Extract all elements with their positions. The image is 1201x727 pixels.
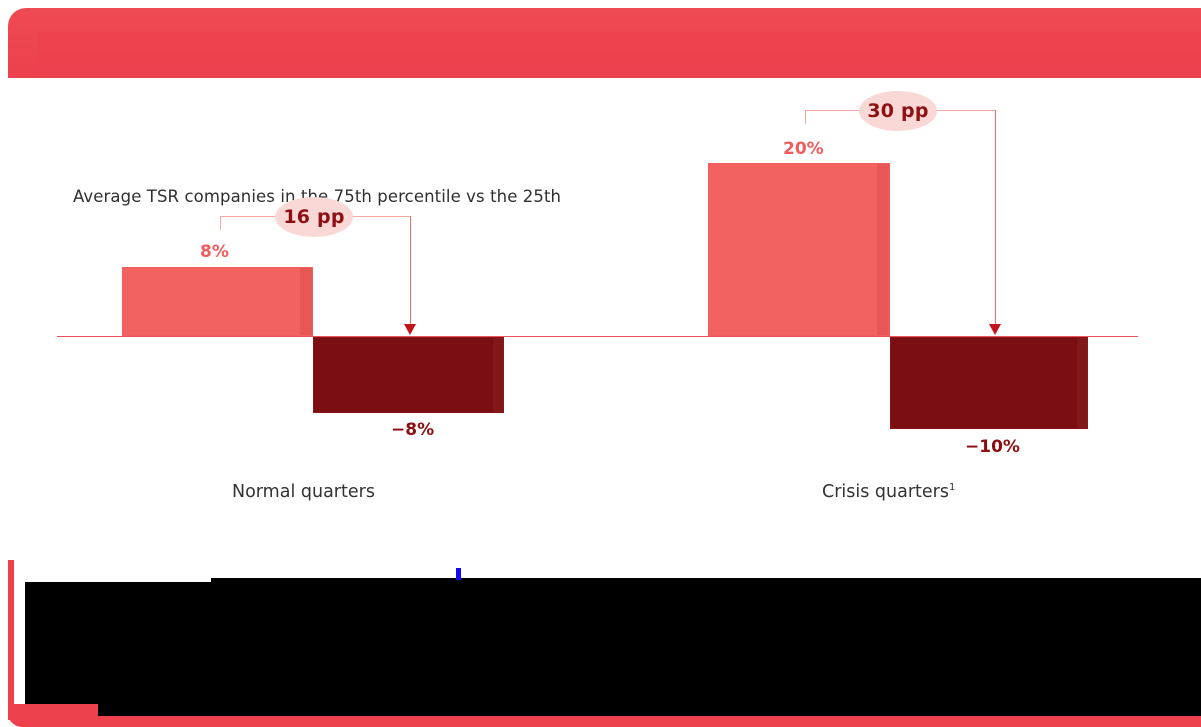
chart-plot-area: 8% −8% 16 pp 20% −10% xyxy=(8,78,1194,638)
bar-normal-75th[interactable] xyxy=(122,267,313,336)
annotation-arrow-icon xyxy=(989,324,1001,335)
occluded-region xyxy=(25,578,1201,711)
header-band xyxy=(8,8,1201,78)
annotation-bubble-crisis: 30 pp xyxy=(859,91,937,131)
annotation-left-stub xyxy=(220,216,221,230)
header-band-accent xyxy=(38,32,1201,78)
slide-root: Average TSR companies in the 75th percen… xyxy=(0,0,1201,727)
value-label-crisis-25th: −10% xyxy=(965,437,1020,457)
value-label-normal-25th: −8% xyxy=(391,420,434,440)
value-label-crisis-75th: 20% xyxy=(783,139,824,159)
occluded-region-marker xyxy=(456,568,461,580)
annotation-arrow-icon xyxy=(404,324,416,335)
category-label-crisis: Crisis quarters1 xyxy=(822,482,955,502)
bar-crisis-25th[interactable] xyxy=(890,337,1088,429)
annotation-left-stub xyxy=(805,110,806,124)
bar-normal-25th[interactable] xyxy=(313,337,504,413)
bar-crisis-75th[interactable] xyxy=(708,163,890,336)
annotation-right-drop-line xyxy=(995,110,996,326)
category-label-normal: Normal quarters xyxy=(232,482,375,502)
annotation-right-drop-line xyxy=(410,216,411,326)
footer-occlusion xyxy=(98,704,1201,716)
left-edge-strip xyxy=(8,560,14,720)
occluded-region-notch xyxy=(25,578,211,582)
value-label-normal-75th: 8% xyxy=(200,242,229,262)
annotation-bubble-normal: 16 pp xyxy=(275,197,353,237)
